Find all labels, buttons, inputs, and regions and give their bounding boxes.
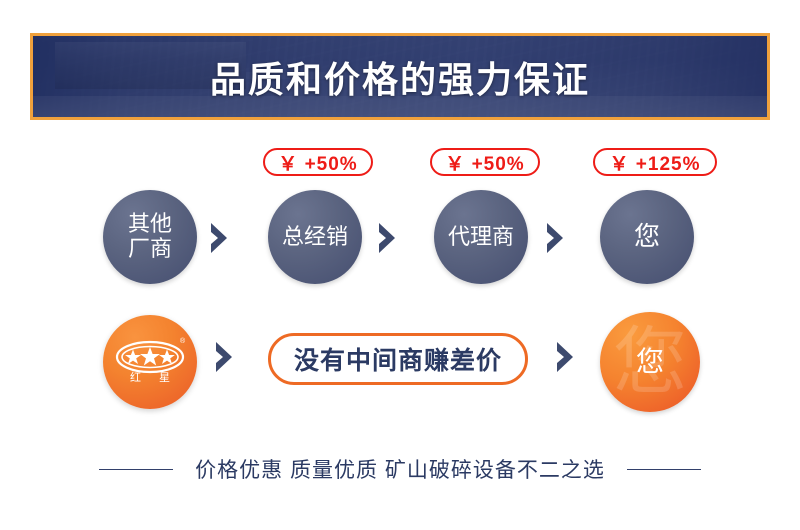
chain-node-label-line2: 厂商 (128, 236, 172, 261)
star-icon (125, 350, 141, 365)
hongxing-logo-mark: ® 红 星 (103, 315, 197, 409)
footer-tagline: 价格优惠 质量优质 矿山破碎设备不二之选 (0, 452, 800, 486)
star-icon (140, 347, 160, 366)
chain-node-you-direct: 您 您 (600, 312, 700, 412)
header-banner: 品质和价格的强力保证 (30, 33, 770, 120)
chain-node-label-line1: 其他 (128, 211, 172, 236)
markup-badge-1: ￥ +50% (263, 148, 373, 176)
divider-right (627, 469, 701, 470)
chevron-right-icon (375, 221, 405, 255)
chain-node-label: 您 (636, 346, 664, 377)
chevron-right-icon (543, 221, 573, 255)
no-middleman-message: 没有中间商赚差价 (268, 333, 528, 385)
registered-mark: ® (180, 337, 186, 345)
chain-node-label: 代理商 (448, 225, 514, 250)
banner-title: 品质和价格的强力保证 (33, 36, 767, 117)
footer-text: 价格优惠 质量优质 矿山破碎设备不二之选 (195, 454, 605, 484)
chain-node-you-indirect: 您 (600, 190, 694, 284)
chain-node-label: 其他 厂商 (128, 212, 172, 261)
star-icon (159, 350, 175, 365)
chain-node-agent: 代理商 (434, 190, 528, 284)
chevron-right-icon (207, 221, 237, 255)
chain-node-general-distributor: 总经销 (268, 190, 362, 284)
infographic-page: 品质和价格的强力保证 ￥ +50% ￥ +50% ￥ +125% 其他 厂商 总… (0, 0, 800, 530)
chevron-right-icon (553, 340, 583, 374)
hongxing-logo: ® 红 星 (103, 315, 197, 409)
chevron-right-icon (212, 340, 242, 374)
markup-badge-2: ￥ +50% (430, 148, 540, 176)
chain-node-label: 总经销 (282, 225, 348, 250)
markup-badge-3: ￥ +125% (593, 148, 717, 176)
logo-text-left: 红 (130, 371, 141, 384)
divider-left (99, 469, 173, 470)
chain-node-other-manufacturers: 其他 厂商 (103, 190, 197, 284)
chain-node-label: 您 (634, 222, 660, 251)
logo-text-right: 星 (159, 371, 170, 384)
